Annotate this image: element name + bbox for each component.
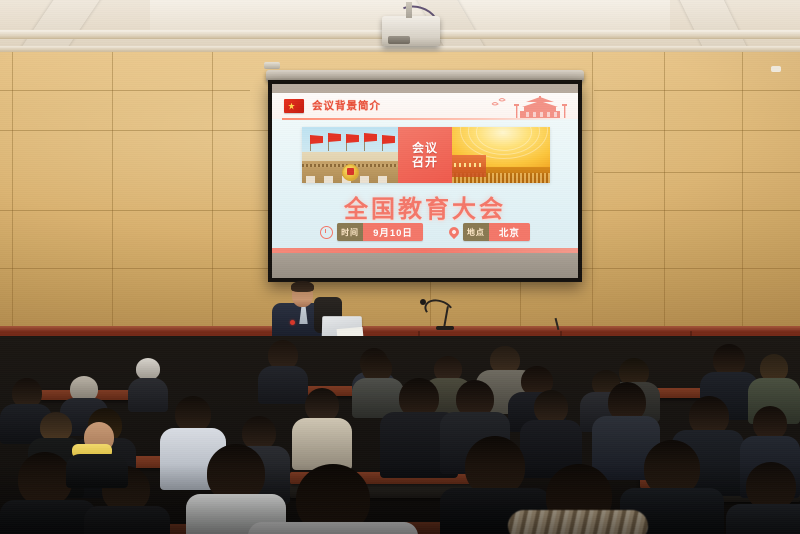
- presenter-lapel-pin-icon: [290, 320, 295, 325]
- banner-image-great-hall: [452, 127, 550, 183]
- banner-image-tiananmen: [302, 127, 398, 183]
- panel-seam-v1: [12, 52, 13, 352]
- tiananmen-outline-icon: [486, 96, 572, 118]
- party-flag-icon: [284, 99, 304, 113]
- meta-time-value: 9月10日: [363, 223, 423, 241]
- meta-chip-time: 时间 9月10日: [320, 223, 423, 241]
- panel-seam-h6: [594, 172, 800, 173]
- microphone-base: [436, 326, 454, 330]
- microphone-head-icon: [420, 299, 426, 305]
- panel-seam-h5: [594, 90, 800, 91]
- projection-screen-surface: 会议背景简介: [272, 84, 578, 278]
- projector-mount: [406, 2, 412, 18]
- slide-meta-row: 时间 9月10日 地点 北京: [272, 223, 578, 241]
- podium-top-edge: [0, 326, 800, 331]
- meta-location-value: 北京: [489, 223, 530, 241]
- presentation-slide: 会议背景简介: [272, 93, 578, 253]
- panel-seam-v5: [664, 52, 665, 352]
- slide-header-rule: [282, 118, 568, 120]
- clock-icon: [320, 226, 333, 239]
- floor-shading: [0, 464, 800, 534]
- slide-banner: 会议 召开: [302, 127, 550, 183]
- presenter-hair: [291, 281, 314, 292]
- meta-time-key: 时间: [337, 223, 363, 241]
- smoke-detector-icon: [771, 66, 781, 72]
- ceiling-beam-right: [675, 0, 749, 52]
- banner-center-label: 会议 召开: [398, 127, 452, 183]
- meta-location-key: 地点: [463, 223, 489, 241]
- panel-seam-v2: [112, 52, 113, 352]
- slide-header-title: 会议背景简介: [312, 98, 381, 113]
- national-emblem-icon: [342, 164, 359, 181]
- banner-center-line2: 召开: [412, 155, 438, 169]
- panel-seam-v4: [592, 52, 593, 352]
- banner-center-line1: 会议: [412, 141, 438, 155]
- audience-person: [292, 388, 352, 466]
- meta-chip-location: 地点 北京: [449, 223, 530, 241]
- panel-seam-v3: [212, 52, 213, 352]
- ceiling-projector[interactable]: [382, 16, 440, 46]
- conference-room-photo: 会议背景简介: [0, 0, 800, 534]
- projector-lens-icon: [388, 36, 410, 44]
- audience-area: [0, 336, 800, 534]
- screen-blank-area: [272, 253, 578, 278]
- location-pin-icon: [447, 225, 461, 239]
- wall-speaker-icon: [264, 62, 280, 69]
- slide-main-title: 全国教育大会: [272, 189, 578, 224]
- panel-seam-v6: [742, 52, 743, 352]
- projection-screen-frame: 会议背景简介: [268, 80, 582, 282]
